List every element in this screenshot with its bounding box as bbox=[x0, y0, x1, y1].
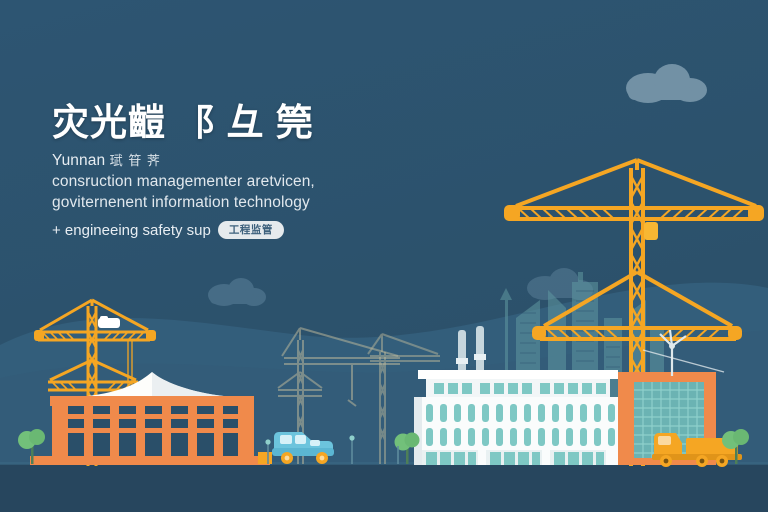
street-pole-lamp-2 bbox=[349, 435, 354, 440]
subtitle-line-1: Yunnan 珷 䇞 荠 bbox=[52, 151, 412, 172]
tree-far-left bbox=[18, 429, 45, 464]
foreground-layer bbox=[0, 0, 768, 512]
subtitle-cjk: 珷 䇞 荠 bbox=[110, 153, 161, 168]
status-badge: ⼯程监管 bbox=[218, 221, 284, 240]
subtitle-line-4-text: + engineeing safety sup bbox=[52, 222, 211, 239]
subtitle-line-4: + engineeing safety sup ⼯程监管 bbox=[52, 221, 412, 240]
hero-text-block: 灾光䶣 ⻏ 彑 筦 Yunnan 珷 䇞 荠 consruction manag… bbox=[52, 104, 412, 239]
subtitle-brand: Yunnan bbox=[52, 152, 105, 169]
page-title: 灾光䶣 ⻏ 彑 筦 bbox=[52, 104, 412, 143]
street-pole-lamp bbox=[265, 439, 270, 444]
van-blue bbox=[272, 432, 334, 464]
subtitle-line-2: consruction managementer aretvicen, bbox=[52, 172, 412, 193]
illustration-banner: 灾光䶣 ⻏ 彑 筦 Yunnan 珷 䇞 荠 consruction manag… bbox=[0, 0, 768, 512]
subtitle-line-3: goviternenent information technology bbox=[52, 193, 412, 214]
